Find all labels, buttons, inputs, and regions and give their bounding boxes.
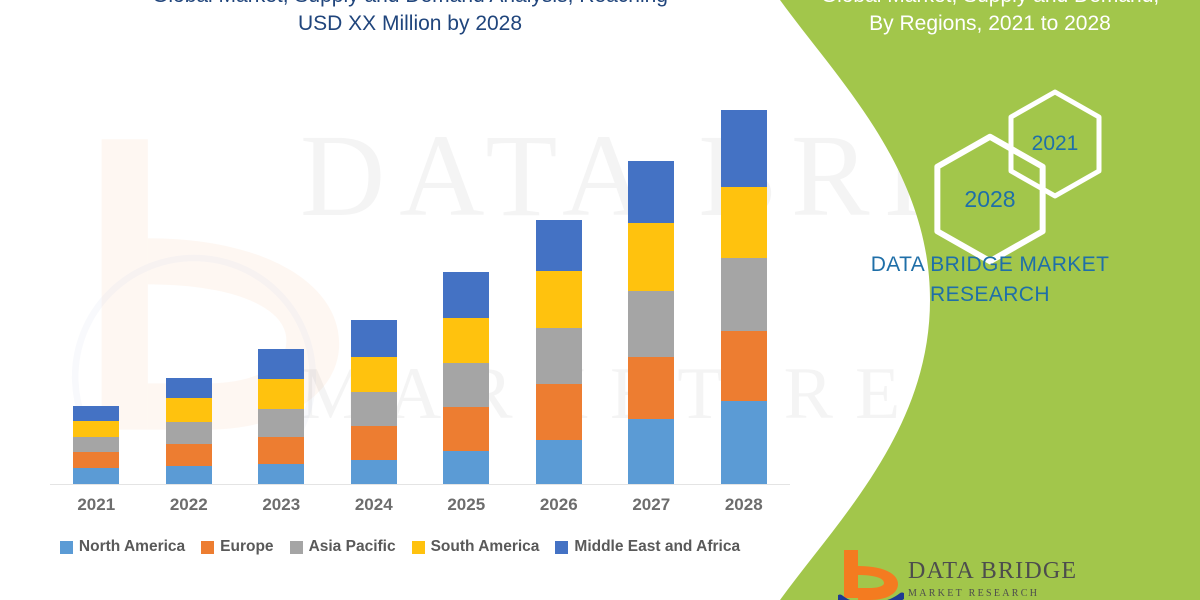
bar-segment [536, 384, 582, 440]
bar-segment [73, 406, 119, 421]
bar-segment [628, 419, 674, 485]
bar-segment [73, 421, 119, 437]
bar-segment [351, 357, 397, 392]
bar-segment [443, 363, 489, 407]
hexagon-badge-2021: 2021 [1005, 88, 1105, 200]
bar-segment [73, 468, 119, 485]
axis-baseline [50, 484, 790, 485]
bar-segment [351, 426, 397, 460]
bar-2028 [721, 110, 767, 485]
data-bridge-logo: DATA BRIDGE MARKET RESEARCH [838, 548, 1118, 600]
x-tick-2026: 2026 [519, 495, 599, 515]
x-tick-2025: 2025 [426, 495, 506, 515]
bar-segment [443, 272, 489, 318]
legend-label: North America [79, 538, 185, 556]
bar-2027 [628, 161, 674, 485]
bar-segment [443, 451, 489, 485]
bar-2023 [258, 349, 304, 485]
legend-item[interactable]: North America [60, 538, 185, 556]
bar-segment [628, 291, 674, 356]
bar-segment [536, 328, 582, 385]
panel-title-line-1: Global Market, Supply and Demand, [798, 0, 1182, 10]
bar-segment [351, 320, 397, 356]
bar-segment [258, 464, 304, 485]
bar-segment [258, 379, 304, 409]
bar-segment [166, 422, 212, 444]
legend-swatch-icon [201, 541, 214, 554]
bar-segment [258, 349, 304, 379]
legend-label: Asia Pacific [309, 538, 396, 556]
bar-segment [721, 331, 767, 401]
bar-segment [443, 407, 489, 451]
legend-item[interactable]: Middle East and Africa [555, 538, 740, 556]
legend-item[interactable]: Europe [201, 538, 273, 556]
logo-title: DATA BRIDGE [908, 558, 1077, 585]
panel-title: Global Market, Supply and Demand, By Reg… [780, 0, 1200, 38]
bar-segment [258, 437, 304, 464]
bar-2025 [443, 272, 489, 485]
hexagon-2021-label: 2021 [1005, 88, 1105, 200]
legend-swatch-icon [60, 541, 73, 554]
bar-2022 [166, 378, 212, 485]
legend-label: South America [431, 538, 540, 556]
legend-item[interactable]: South America [412, 538, 540, 556]
panel-brand-line-2: RESEARCH [930, 283, 1050, 306]
legend-label: Europe [220, 538, 273, 556]
x-tick-2023: 2023 [241, 495, 321, 515]
bar-2026 [536, 220, 582, 485]
bar-segment [721, 258, 767, 331]
bar-segment [166, 398, 212, 422]
bar-segment [536, 271, 582, 328]
bar-segment [628, 357, 674, 419]
bar-segment [721, 110, 767, 187]
bar-segment [443, 318, 489, 363]
bar-segment [628, 223, 674, 291]
bar-segment [73, 437, 119, 452]
x-tick-2021: 2021 [56, 495, 136, 515]
legend-item[interactable]: Asia Pacific [290, 538, 396, 556]
bar-segment [536, 220, 582, 271]
panel-brand-line-1: DATA BRIDGE MARKET [871, 253, 1110, 276]
bar-segment [351, 392, 397, 426]
legend-label: Middle East and Africa [574, 538, 740, 556]
bar-segment [73, 452, 119, 468]
bar-segment [166, 378, 212, 398]
bar-segment [536, 440, 582, 485]
x-tick-2027: 2027 [611, 495, 691, 515]
x-tick-2028: 2028 [704, 495, 784, 515]
bar-segment [258, 409, 304, 437]
bar-segment [721, 187, 767, 259]
panel-brand-text: DATA BRIDGE MARKET RESEARCH [780, 250, 1200, 310]
chart-legend: North AmericaEuropeAsia PacificSouth Ame… [0, 538, 800, 556]
x-tick-2024: 2024 [334, 495, 414, 515]
x-axis-tick-labels: 20212022202320242025202620272028 [50, 495, 790, 525]
bar-segment [166, 444, 212, 465]
bar-2024 [351, 320, 397, 485]
panel-title-line-2: By Regions, 2021 to 2028 [798, 10, 1182, 38]
legend-swatch-icon [555, 541, 568, 554]
bar-segment [721, 401, 767, 485]
legend-swatch-icon [290, 541, 303, 554]
plot-area [50, 100, 790, 485]
bar-segment [351, 460, 397, 485]
legend-swatch-icon [412, 541, 425, 554]
logo-b-mark-icon [838, 548, 904, 600]
chart-title-line-1: Global Market, Supply and Demand Analysi… [0, 0, 820, 10]
bar-segment [166, 466, 212, 485]
x-tick-2022: 2022 [149, 495, 229, 515]
bar-2021 [73, 406, 119, 485]
chart-title-line-2: USD XX Million by 2028 [0, 10, 820, 38]
chart-container: Global Market, Supply and Demand Analysi… [0, 0, 820, 600]
chart-title: Global Market, Supply and Demand Analysi… [0, 0, 820, 38]
logo-subtitle: MARKET RESEARCH [908, 588, 1039, 599]
bar-segment [628, 161, 674, 223]
